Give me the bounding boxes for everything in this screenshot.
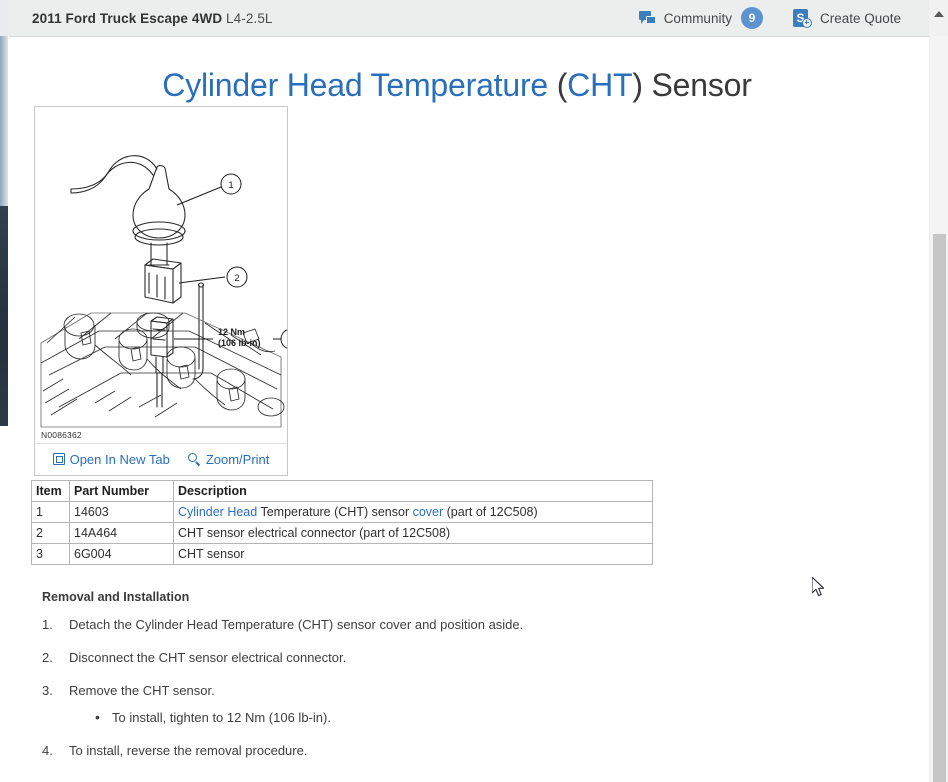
cell-description: CHT sensor xyxy=(174,544,653,565)
top-header-bar: 2011 Ford Truck Escape 4WD L4-2.5L Commu… xyxy=(9,0,929,37)
procedure-heading: Removal and Installation xyxy=(42,590,702,604)
mouse-cursor xyxy=(812,577,826,598)
step-number: 1. xyxy=(42,617,53,633)
community-button[interactable]: Community 9 xyxy=(639,7,763,29)
step-text: To install, reverse the removal procedur… xyxy=(69,743,307,758)
magnifier-icon xyxy=(188,453,201,466)
cell-item: 2 xyxy=(32,523,70,544)
step-sub-list: To install, tighten to 12 Nm (106 lb-in)… xyxy=(69,710,702,726)
table-row: 1 14603 Cylinder Head Temperature (CHT) … xyxy=(32,502,653,523)
desc-link-cover[interactable]: cover xyxy=(413,505,444,519)
step-text: Remove the CHT sensor. xyxy=(69,683,215,698)
cell-item: 3 xyxy=(32,544,70,565)
vehicle-title: 2011 Ford Truck Escape 4WD L4-2.5L xyxy=(32,11,273,26)
community-count-badge: 9 xyxy=(741,7,763,29)
cell-description: Cylinder Head Temperature (CHT) sensor c… xyxy=(174,502,653,523)
document-page: Cylinder Head Temperature (CHT) Sensor xyxy=(9,38,929,782)
page-title-part2: Sensor xyxy=(643,67,752,103)
procedure-step: 1. Detach the Cylinder Head Temperature … xyxy=(42,617,702,633)
step-number: 3. xyxy=(42,683,53,699)
page-title: Cylinder Head Temperature (CHT) Sensor xyxy=(9,67,929,104)
parts-table: Item Part Number Description 1 14603 Cyl… xyxy=(31,480,653,565)
figure-image[interactable]: 1 2 12 Nm (106 lb-in) 3 N0086362 xyxy=(35,107,287,443)
column-header-part-number: Part Number xyxy=(70,481,174,502)
open-in-new-tab-label: Open In New Tab xyxy=(70,452,170,467)
figure-id-label: N0086362 xyxy=(41,430,82,440)
desc-mid-text: Temperature (CHT) sensor xyxy=(257,505,412,519)
cell-part-number: 6G004 xyxy=(70,544,174,565)
zoom-print-label: Zoom/Print xyxy=(206,452,270,467)
community-label: Community xyxy=(664,11,732,26)
svg-text:12 Nm: 12 Nm xyxy=(218,327,245,337)
desc-link-cylinder-head[interactable]: Cylinder Head xyxy=(178,505,257,519)
create-quote-label: Create Quote xyxy=(820,11,901,26)
cht-sensor-diagram: 1 2 12 Nm (106 lb-in) 3 xyxy=(35,107,287,443)
table-row: 3 6G004 CHT sensor xyxy=(32,544,653,565)
step-text: Detach the Cylinder Head Temperature (CH… xyxy=(69,617,523,632)
scroll-thumb[interactable] xyxy=(933,234,946,782)
procedure-step: 4. To install, reverse the removal proce… xyxy=(42,743,702,759)
left-edge-panel-dark xyxy=(0,206,8,426)
cell-item: 1 xyxy=(32,502,70,523)
column-header-item: Item xyxy=(32,481,70,502)
left-edge-panel-light xyxy=(0,36,8,206)
page-title-close-paren: ) xyxy=(632,67,642,103)
vertical-scrollbar[interactable] xyxy=(929,0,948,782)
procedure-step: 2. Disconnect the CHT sensor electrical … xyxy=(42,650,702,666)
vehicle-name: 2011 Ford Truck Escape 4WD xyxy=(32,11,222,26)
cell-part-number: 14603 xyxy=(70,502,174,523)
zoom-print-button[interactable]: Zoom/Print xyxy=(188,452,270,467)
procedure-section: Removal and Installation 1. Detach the C… xyxy=(42,590,702,776)
create-quote-button[interactable]: Create Quote xyxy=(793,9,901,28)
svg-text:2: 2 xyxy=(234,273,239,284)
page-title-abbrev: CHT xyxy=(567,67,632,103)
desc-end-text: (part of 12C508) xyxy=(443,505,538,519)
table-header-row: Item Part Number Description xyxy=(32,481,653,502)
table-row: 2 14A464 CHT sensor electrical connector… xyxy=(32,523,653,544)
step-text: Disconnect the CHT sensor electrical con… xyxy=(69,650,346,665)
scrollbar-corner xyxy=(929,0,948,36)
page-title-open-paren: ( xyxy=(557,67,567,103)
column-header-description: Description xyxy=(174,481,653,502)
svg-text:1: 1 xyxy=(228,180,233,191)
chat-bubbles-icon xyxy=(639,11,656,26)
procedure-step: 3. Remove the CHT sensor. To install, ti… xyxy=(42,683,702,726)
cell-description: CHT sensor electrical connector (part of… xyxy=(174,523,653,544)
page-title-part1: Cylinder Head Temperature xyxy=(162,67,556,103)
step-sub-item: To install, tighten to 12 Nm (106 lb-in)… xyxy=(95,710,702,726)
step-number: 2. xyxy=(42,650,53,666)
open-in-new-tab-button[interactable]: Open In New Tab xyxy=(53,452,170,467)
step-number: 4. xyxy=(42,743,53,759)
app-window: 2011 Ford Truck Escape 4WD L4-2.5L Commu… xyxy=(0,0,948,782)
procedure-steps: 1. Detach the Cylinder Head Temperature … xyxy=(42,617,702,759)
header-actions: Community 9 Create Quote xyxy=(639,7,901,29)
figure-box: 1 2 12 Nm (106 lb-in) 3 N0086362 xyxy=(34,106,288,476)
vehicle-engine: L4-2.5L xyxy=(226,11,273,26)
open-in-new-tab-icon xyxy=(53,453,65,465)
dollar-document-plus-icon xyxy=(793,9,812,28)
left-edge-chrome xyxy=(0,0,9,782)
cell-part-number: 14A464 xyxy=(70,523,174,544)
left-edge-top xyxy=(0,0,9,36)
svg-text:(106 lb-in): (106 lb-in) xyxy=(218,338,261,348)
figure-toolbar: Open In New Tab Zoom/Print xyxy=(35,443,287,474)
scroll-up-arrow-icon[interactable] xyxy=(934,11,944,17)
